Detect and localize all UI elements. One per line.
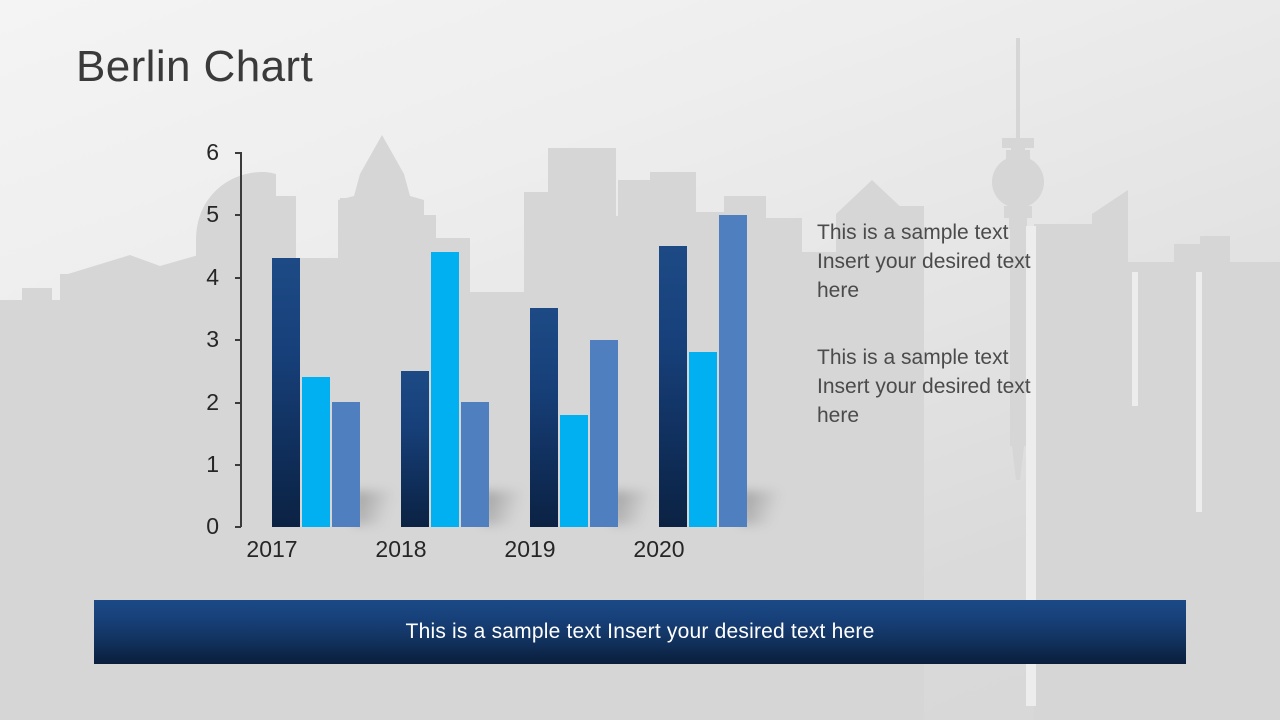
bar-2019-series-2[interactable] <box>560 415 588 528</box>
bar-group-shadow <box>354 491 400 525</box>
bar-chart: 6 5 4 3 2 1 0 2017 2018 2019 2020 <box>195 140 795 540</box>
bar-2017-series-2[interactable] <box>302 377 330 527</box>
bar-group-2019 <box>530 152 618 527</box>
side-text-block-2: This is a sample text Insert your desire… <box>817 343 1057 430</box>
bar-2019-series-1[interactable] <box>530 308 558 527</box>
plot-area <box>242 152 787 527</box>
bar-group-2018 <box>401 152 489 527</box>
y-tick-mark <box>235 464 241 466</box>
y-tick-mark <box>235 402 241 404</box>
page-title: Berlin Chart <box>76 42 313 92</box>
bar-2019-series-3[interactable] <box>590 340 618 528</box>
bottom-banner[interactable]: This is a sample text Insert your desire… <box>94 600 1186 664</box>
bar-2020-series-2[interactable] <box>689 352 717 527</box>
bar-2017-series-1[interactable] <box>272 258 300 527</box>
x-tick-label-2020: 2020 <box>599 536 719 563</box>
bar-group-shadow <box>741 491 787 525</box>
y-tick-mark <box>235 277 241 279</box>
bottom-banner-text: This is a sample text Insert your desire… <box>406 620 875 644</box>
slide-canvas: Berlin Chart 6 5 4 3 2 1 0 2017 2018 201… <box>0 0 1280 720</box>
x-tick-label-2018: 2018 <box>341 536 461 563</box>
bar-2018-series-2[interactable] <box>431 252 459 527</box>
y-tick-mark <box>235 152 241 154</box>
y-tick-label-3: 3 <box>179 328 219 351</box>
y-tick-label-6: 6 <box>179 141 219 164</box>
y-tick-label-0: 0 <box>179 515 219 538</box>
x-tick-label-2017: 2017 <box>212 536 332 563</box>
bar-2018-series-3[interactable] <box>461 402 489 527</box>
bar-group-2017 <box>272 152 360 527</box>
y-tick-mark <box>235 339 241 341</box>
y-tick-mark <box>235 214 241 216</box>
bar-group-shadow <box>483 491 529 525</box>
y-tick-label-4: 4 <box>179 266 219 289</box>
y-tick-label-2: 2 <box>179 391 219 414</box>
bar-group-2020 <box>659 152 747 527</box>
y-tick-label-5: 5 <box>179 203 219 226</box>
bar-2017-series-3[interactable] <box>332 402 360 527</box>
side-text-block-1: This is a sample text Insert your desire… <box>817 218 1057 305</box>
bar-2020-series-1[interactable] <box>659 246 687 527</box>
bar-2018-series-1[interactable] <box>401 371 429 527</box>
y-tick-label-1: 1 <box>179 453 219 476</box>
y-tick-mark <box>235 526 241 528</box>
bar-group-shadow <box>612 491 658 525</box>
bar-2020-series-3[interactable] <box>719 215 747 528</box>
x-tick-label-2019: 2019 <box>470 536 590 563</box>
